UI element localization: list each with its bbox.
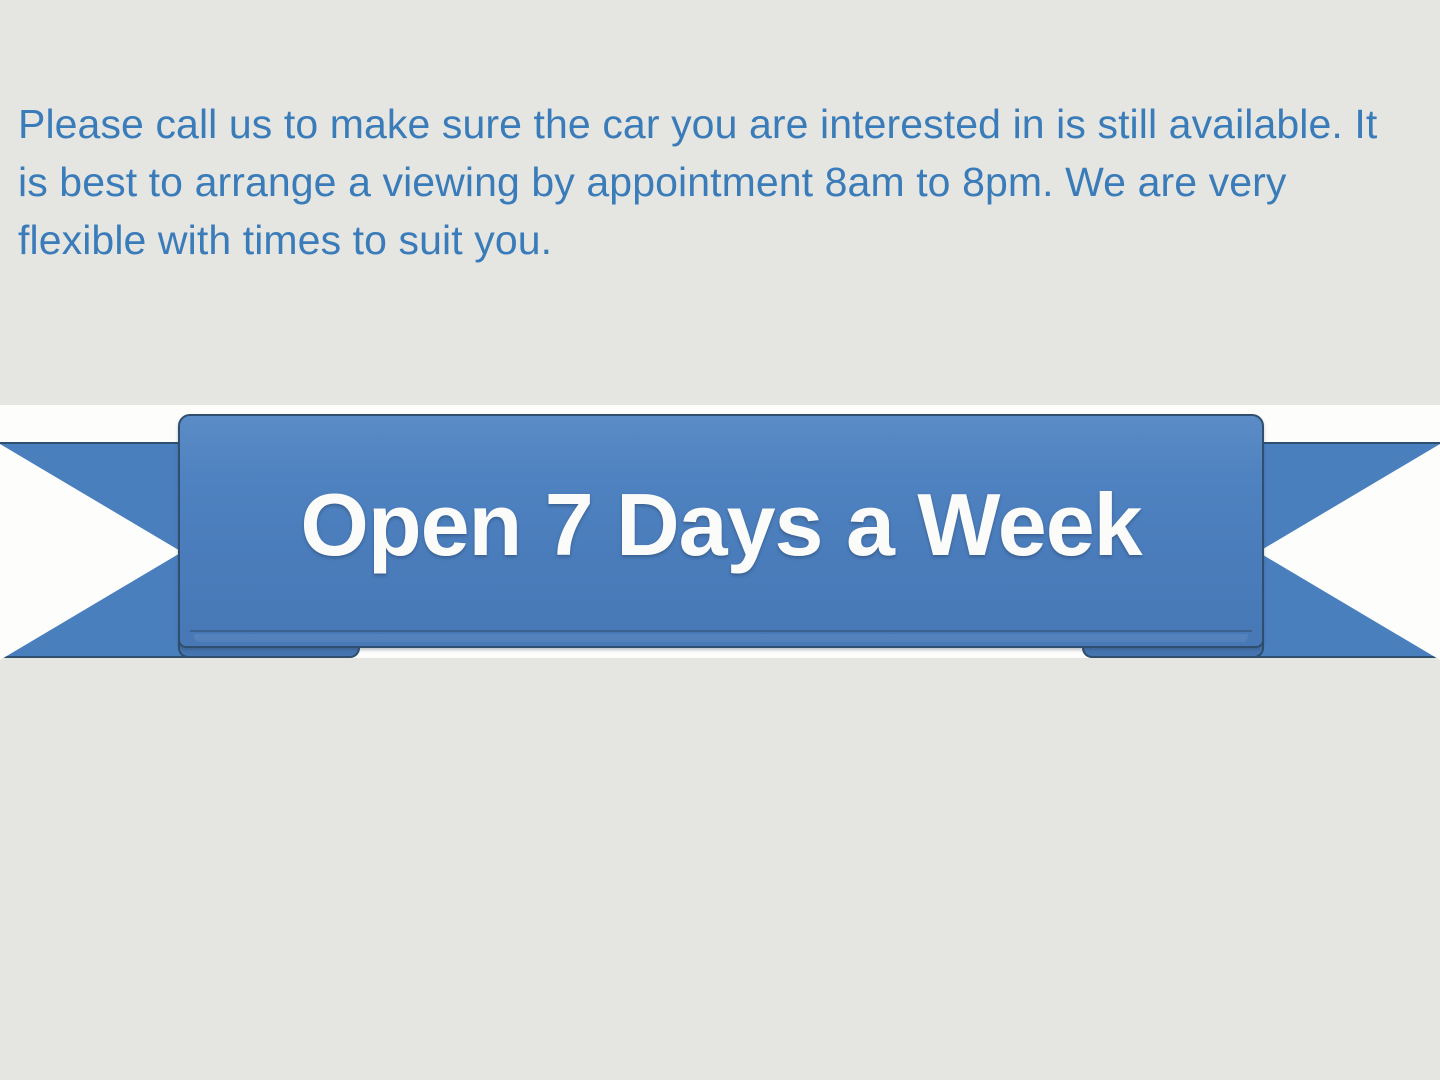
ribbon-notch-left-icon [0,444,182,660]
ribbon-panel-highlight [194,634,1248,642]
ribbon-title-text: Open 7 Days a Week [300,481,1141,569]
ribbon-panel-crease [190,630,1252,632]
ribbon-notch-right-icon [1258,444,1440,660]
ribbon-center-panel: Open 7 Days a Week [178,414,1264,648]
intro-paragraph-block: Please call us to make sure the car you … [18,95,1388,269]
ribbon-banner: Open 7 Days a Week [0,400,1440,668]
intro-paragraph-text: Please call us to make sure the car you … [18,95,1388,269]
